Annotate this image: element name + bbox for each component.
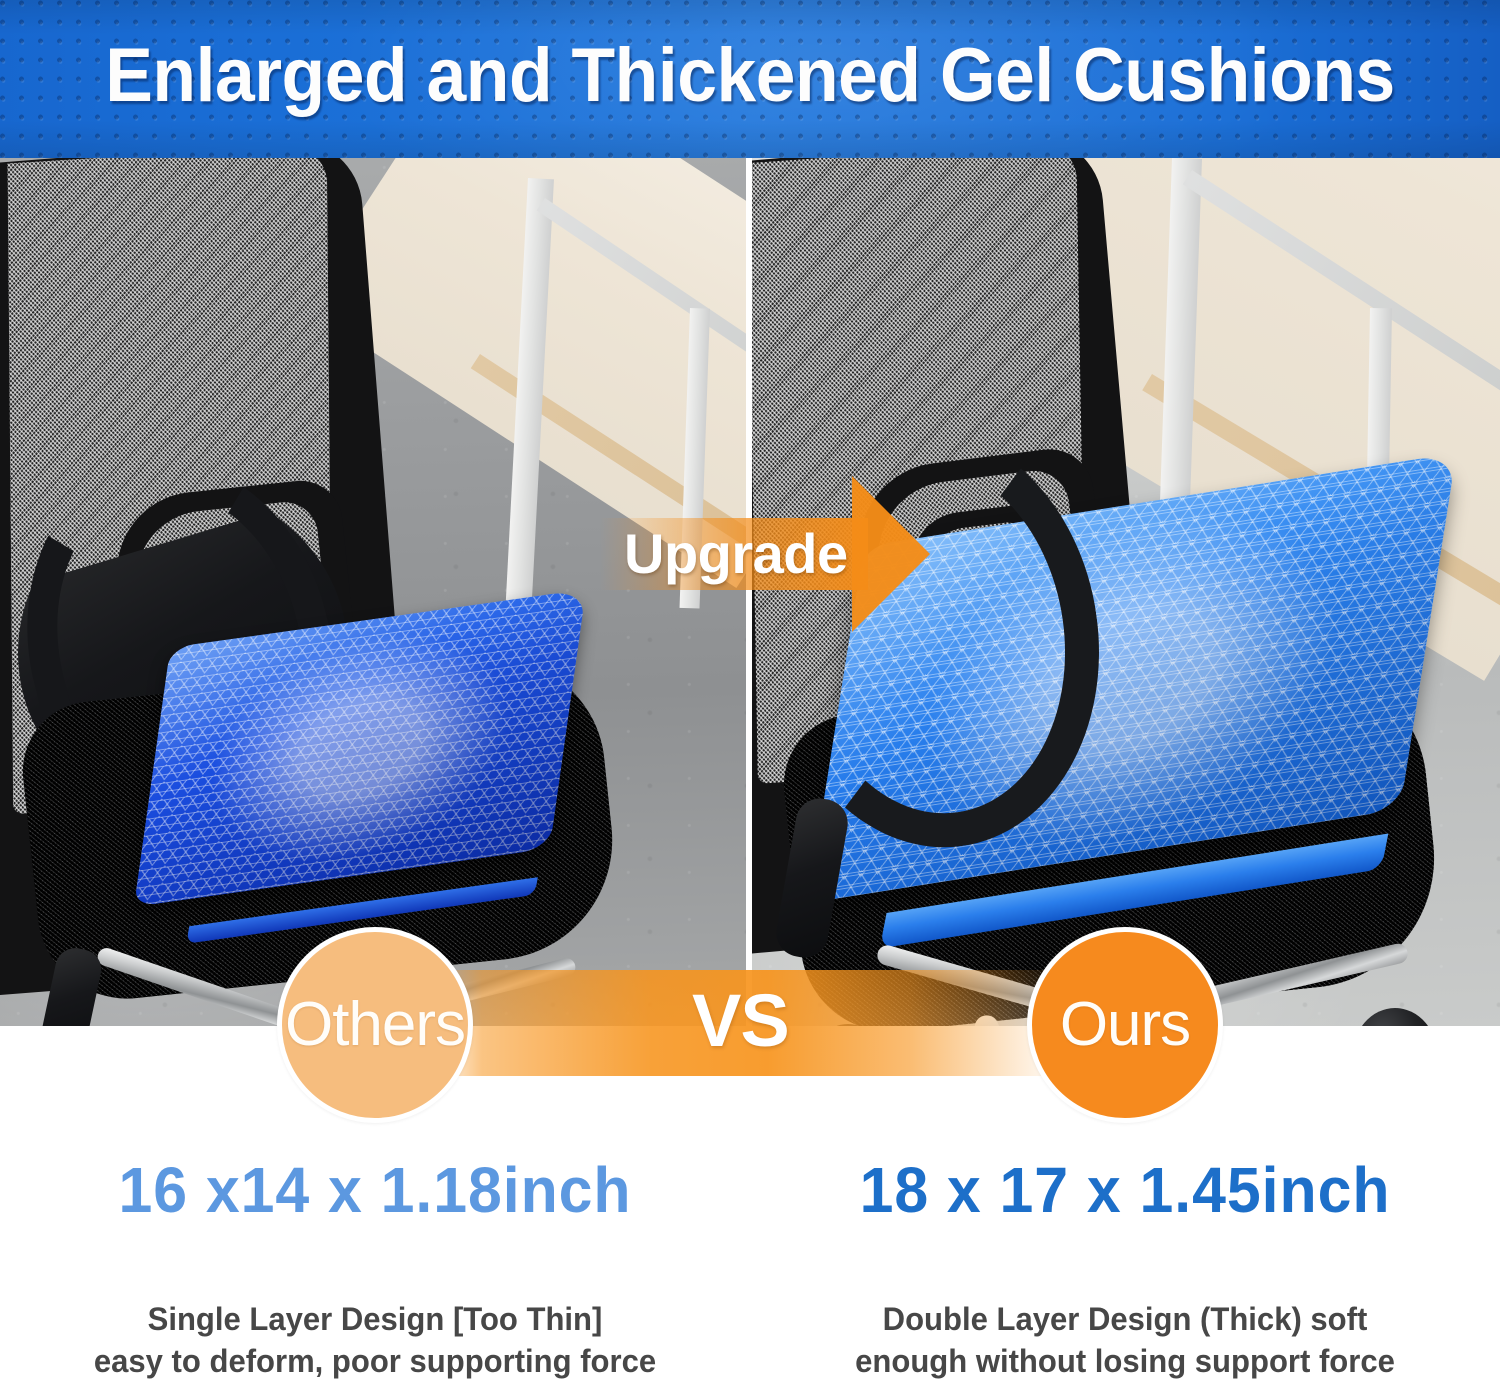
description-ours-line2: enough without losing support force — [761, 1340, 1489, 1382]
description-others: Single Layer Design [Too Thin] easy to d… — [11, 1298, 739, 1382]
infographic-page: Enlarged and Thickened Gel Cushions — [0, 0, 1500, 1394]
upgrade-label: Upgrade — [624, 521, 924, 587]
dimensions-others: 16 x14 x 1.18inch — [19, 1152, 732, 1228]
description-others-line2: easy to deform, poor supporting force — [11, 1340, 739, 1382]
description-ours: Double Layer Design (Thick) soft enough … — [761, 1298, 1489, 1382]
dimensions-ours: 18 x 17 x 1.45inch — [769, 1152, 1482, 1228]
badge-others: Others — [277, 927, 473, 1123]
vs-label: VS — [692, 978, 789, 1064]
badge-ours-label: Ours — [1060, 991, 1190, 1059]
upgrade-callout: Upgrade — [600, 470, 960, 640]
vs-band: VS — [430, 970, 1080, 1076]
header-banner: Enlarged and Thickened Gel Cushions — [0, 0, 1500, 158]
description-others-line1: Single Layer Design [Too Thin] — [11, 1298, 739, 1340]
page-title: Enlarged and Thickened Gel Cushions — [45, 26, 1455, 126]
description-ours-line1: Double Layer Design (Thick) soft — [761, 1298, 1489, 1340]
badge-ours: Ours — [1027, 927, 1223, 1123]
comparison-captions: 16 x14 x 1.18inch Single Layer Design [T… — [0, 1026, 1500, 1394]
badge-others-label: Others — [285, 991, 465, 1059]
